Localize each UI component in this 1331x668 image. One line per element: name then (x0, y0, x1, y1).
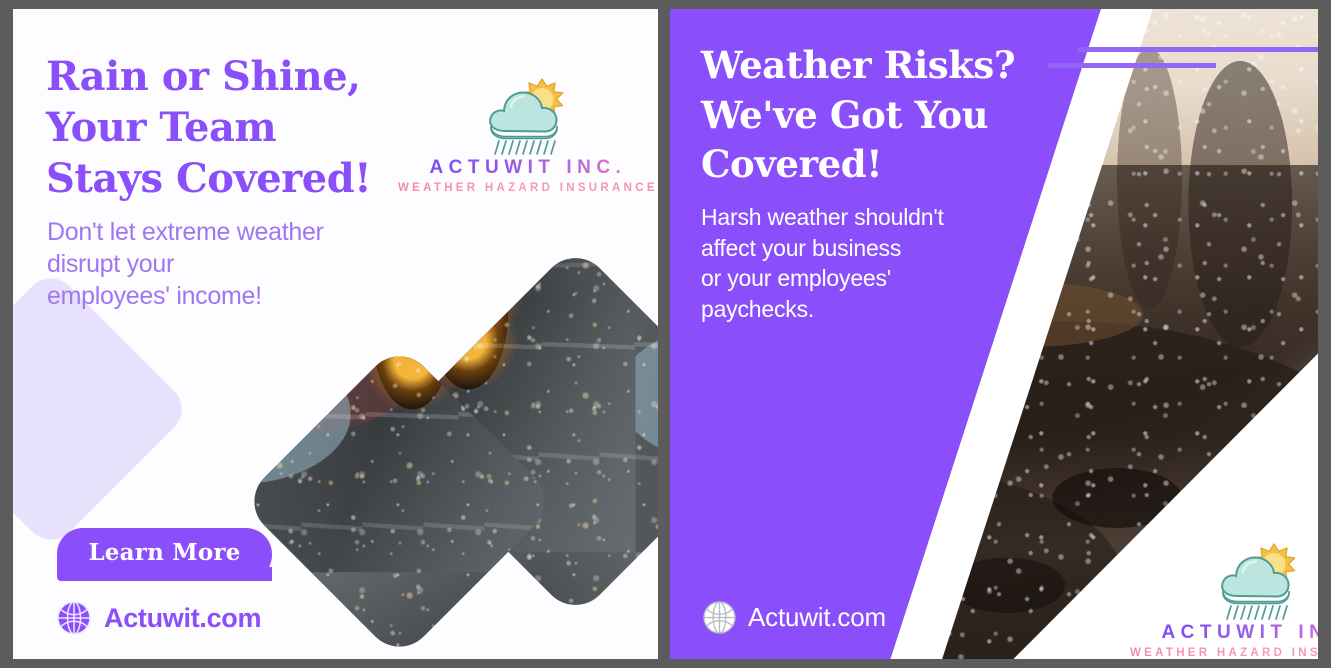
logo-company-name: ACTUWIT INC. (1161, 622, 1318, 644)
ad-pair-canvas: Rain or Shine, Your Team Stays Covered! … (0, 0, 1331, 668)
left-website-link[interactable]: Actuwit.com (57, 601, 261, 635)
right-subhead-line-2: affect your business (701, 235, 901, 261)
globe-icon (57, 601, 91, 635)
left-subhead-line-1: Don't let extreme weather (47, 218, 324, 246)
sun-behind-rain-cloud-icon (1211, 534, 1309, 622)
purple-rule-bottom (1048, 63, 1216, 68)
left-headline: Rain or Shine, Your Team Stays Covered! (46, 51, 416, 205)
right-website-text: Actuwit.com (748, 602, 886, 633)
right-ad-card: Weather Risks? We've Got You Covered! Ha… (670, 9, 1318, 659)
logo-lockup-right: ACTUWIT INC. WEATHER HAZARD INSURANCE (1130, 534, 1318, 659)
left-headline-line-1: Rain or Shine, (46, 53, 361, 100)
right-headline-line-3: Covered! (701, 142, 882, 186)
logo-company-name: ACTUWIT INC. (429, 157, 626, 179)
learn-more-button[interactable]: Learn More (57, 528, 272, 581)
left-subhead-line-3: employees' income! (47, 282, 262, 310)
purple-rule-top (1078, 47, 1318, 52)
sun-behind-rain-cloud-icon (479, 69, 577, 157)
left-headline-line-3: Stays Covered! (46, 155, 371, 202)
logo-lockup-left: ACTUWIT INC. WEATHER HAZARD INSURANCE (398, 69, 658, 194)
logo-tagline: WEATHER HAZARD INSURANCE (1130, 647, 1318, 659)
left-subhead: Don't let extreme weather disrupt your e… (47, 216, 407, 312)
learn-more-label: Learn More (88, 539, 240, 566)
left-headline-line-2: Your Team (46, 104, 276, 151)
left-ad-card: Rain or Shine, Your Team Stays Covered! … (13, 9, 658, 659)
right-subhead-line-1: Harsh weather shouldn't (701, 204, 944, 230)
right-subhead-line-4: paychecks. (701, 296, 814, 322)
left-subhead-line-2: disrupt your (47, 250, 174, 278)
right-subhead: Harsh weather shouldn't affect your busi… (701, 202, 1001, 324)
right-headline-line-1: Weather Risks? (701, 43, 1015, 87)
right-headline-line-2: We've Got You (701, 93, 988, 137)
logo-tagline: WEATHER HAZARD INSURANCE (398, 182, 658, 194)
left-website-text: Actuwit.com (104, 603, 261, 634)
globe-icon (703, 601, 736, 634)
right-website-link[interactable]: Actuwit.com (703, 601, 886, 634)
right-headline: Weather Risks? We've Got You Covered! (701, 41, 1061, 190)
right-subhead-line-3: or your employees' (701, 265, 891, 291)
